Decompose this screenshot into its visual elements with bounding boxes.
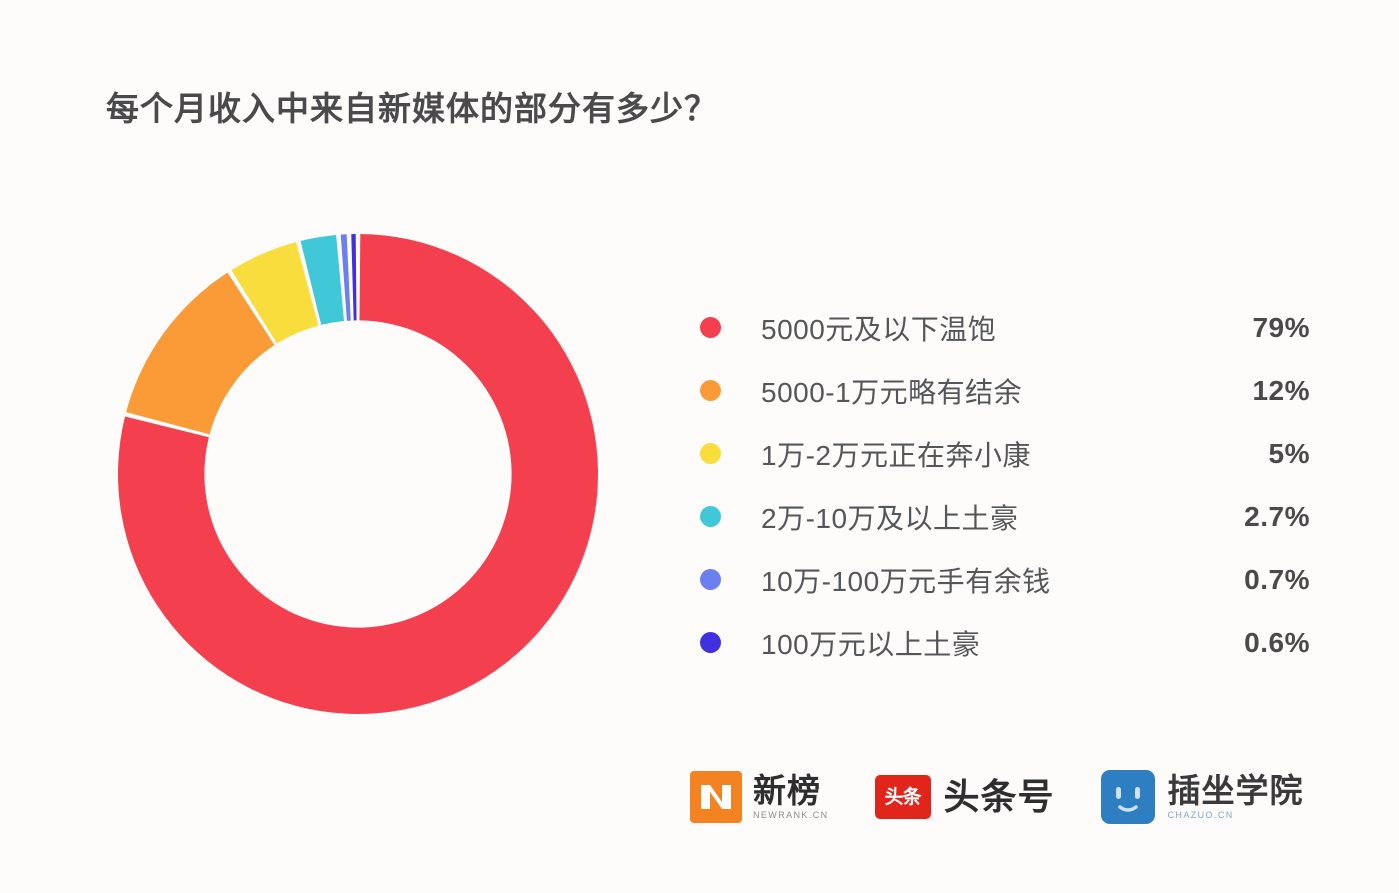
legend-color-swatch-icon (700, 506, 721, 527)
legend-color-swatch-icon (700, 380, 721, 401)
logo-toutiao: 头条 头条号 (875, 775, 1055, 819)
newrank-text: 新榜 NEWRANK.CN (753, 774, 829, 821)
footer-logos: 新榜 NEWRANK.CN 头条 头条号 插坐学院 CHAZUO.CN (690, 770, 1304, 824)
legend-item[interactable]: 2万-10万及以上土豪 2.7% (700, 485, 1310, 548)
legend-color-swatch-icon (700, 317, 721, 338)
newrank-glyph-icon (690, 771, 742, 823)
legend-item-value: 79% (1190, 312, 1310, 344)
legend-item[interactable]: 5000-1万元略有结余 12% (700, 359, 1310, 422)
legend-item-label: 5000-1万元略有结余 (761, 371, 1190, 411)
donut-chart (112, 228, 604, 720)
page-title: 每个月收入中来自新媒体的部分有多少？ (106, 82, 718, 130)
legend-item[interactable]: 1万-2万元正在奔小康 5% (700, 422, 1310, 485)
chart-legend: 5000元及以下温饱 79% 5000-1万元略有结余 12% 1万-2万元正在… (700, 296, 1310, 674)
donut-chart-svg (112, 228, 604, 720)
chazuo-text: 插坐学院 CHAZUO.CN (1168, 774, 1304, 821)
legend-item-value: 12% (1190, 375, 1310, 407)
legend-item-value: 0.7% (1190, 564, 1310, 596)
legend-item-value: 5% (1190, 438, 1310, 470)
legend-item-label: 100万元以上土豪 (761, 623, 1190, 663)
legend-item-label: 2万-10万及以上土豪 (761, 497, 1190, 537)
toutiao-cn-label: 头条号 (944, 779, 1055, 815)
legend-item[interactable]: 100万元以上土豪 0.6% (700, 611, 1310, 674)
newrank-cn-label: 新榜 (753, 774, 829, 809)
chazuo-en-label: CHAZUO.CN (1168, 810, 1304, 820)
toutiao-mark-icon: 头条 (875, 775, 931, 819)
legend-color-swatch-icon (700, 443, 721, 464)
legend-item-label: 5000元及以下温饱 (761, 308, 1190, 348)
legend-item-label: 1万-2万元正在奔小康 (761, 434, 1190, 474)
chazuo-mark-icon (1101, 770, 1155, 824)
legend-item-label: 10万-100万元手有余钱 (761, 560, 1190, 600)
legend-item[interactable]: 10万-100万元手有余钱 0.7% (700, 548, 1310, 611)
newrank-en-label: NEWRANK.CN (753, 810, 829, 820)
legend-color-swatch-icon (700, 632, 721, 653)
legend-color-swatch-icon (700, 569, 721, 590)
donut-slices (118, 234, 598, 714)
chazuo-cn-label: 插坐学院 (1168, 774, 1304, 809)
newrank-mark-icon (690, 771, 742, 823)
chazuo-face-glyph-icon (1101, 770, 1155, 824)
legend-item[interactable]: 5000元及以下温饱 79% (700, 296, 1310, 359)
logo-newrank: 新榜 NEWRANK.CN (690, 771, 829, 823)
legend-item-value: 2.7% (1190, 501, 1310, 533)
donut-slice[interactable] (351, 234, 356, 320)
logo-chazuo: 插坐学院 CHAZUO.CN (1101, 770, 1304, 824)
legend-item-value: 0.6% (1190, 627, 1310, 659)
